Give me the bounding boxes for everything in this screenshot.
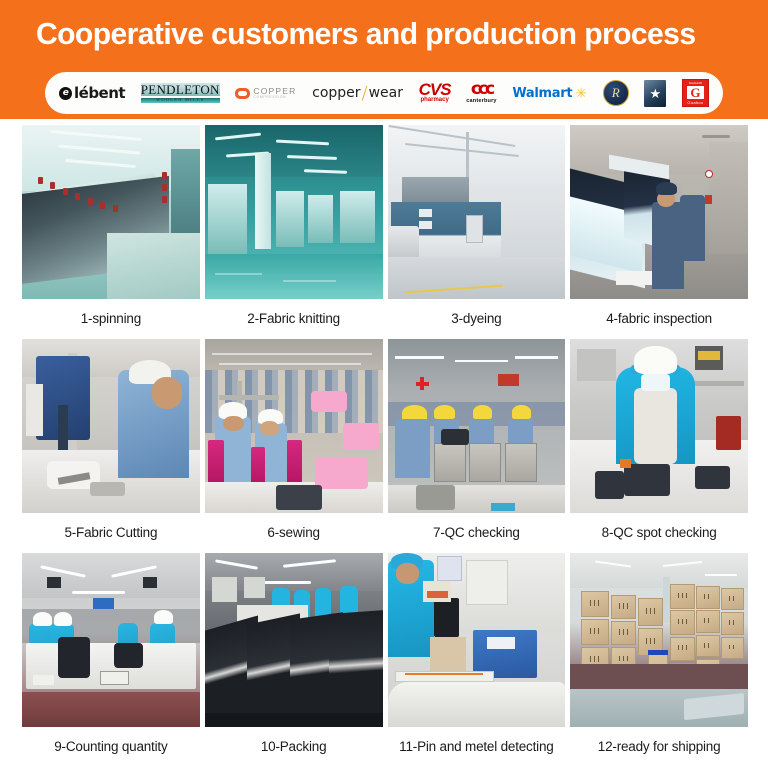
process-step-11: 11-Pin and metel detecting [388,553,566,767]
process-row-2: 5-Fabric Cutting [22,339,748,553]
copper-fit-tagline: COMPRESSION [253,96,296,100]
photo-spinning-mill-yarn-bobbins [22,125,200,299]
caption-step-7: 7-QC checking [388,513,566,553]
logo-pendleton: PENDLETON WOOLEN MILLS [141,76,220,110]
photo-knitting-machine-hall [205,125,383,299]
process-step-7: 7-QC checking [388,339,566,553]
process-step-10: 10-Packing [205,553,383,767]
caption-step-4: 4-fabric inspection [570,299,748,339]
photo-fabric-cutting-worker [22,339,200,513]
page-title: Cooperative customers and production pro… [36,16,695,52]
walmart-spark-icon: ✳ [575,86,587,100]
caption-step-2: 2-Fabric knitting [205,299,383,339]
process-row-3: 9-Counting quantity [22,553,748,767]
logo-lebent: e lébent [59,76,125,110]
reebok-r-emblem-icon: R [603,80,629,106]
logo-star-badge: ★ [644,76,666,110]
process-row-1: 1-spinning [22,125,748,339]
process-step-5: 5-Fabric Cutting [22,339,200,553]
process-step-4: 4-fabric inspection [570,125,748,339]
process-step-2: 2-Fabric knitting [205,125,383,339]
lebent-mark-icon: e [59,87,72,100]
copper-fit-wordmark: COPPER [253,87,296,96]
copper-wear-part1: copper [312,85,360,101]
process-step-8: 8-QC spot checking [570,339,748,553]
logo-copper-fit: COPPER COMPRESSION [235,76,296,110]
pendleton-wordmark: PENDLETON [141,83,220,96]
cvs-wordmark: CVS [419,82,451,98]
photo-warehouse-cartons-ready [570,553,748,727]
cvs-sub: pharmacy [419,98,451,104]
caption-step-10: 10-Packing [205,727,383,767]
caption-step-6: 6-sewing [205,513,383,553]
caption-step-3: 3-dyeing [388,299,566,339]
caption-step-1: 1-spinning [22,299,200,339]
process-step-3: 3-dyeing [388,125,566,339]
poster-header: Cooperative customers and production pro… [0,0,768,119]
process-step-1: 1-spinning [22,125,200,339]
poster-page: Cooperative customers and production pro… [0,0,768,768]
caption-step-11: 11-Pin and metel detecting [388,727,566,767]
photo-packing-stacked-polybags [205,553,383,727]
logo-canterbury: ccc canterbury [466,76,496,110]
photo-metal-detector-conveyor [388,553,566,727]
caption-step-12: 12-ready for shipping [570,727,748,767]
photo-dyeing-machine-line [388,125,566,299]
photo-sewing-floor-pink-yarn-cones [205,339,383,513]
customer-logo-bar: e lébent PENDLETON WOOLEN MILLS COPPER C… [45,72,723,114]
logo-copper-wear: copper / wear [312,76,403,110]
photo-qc-spot-check-folding-garments [570,339,748,513]
process-step-12: 12-ready for shipping [570,553,748,767]
g-brand-sub: Guahoo [687,100,703,105]
caption-step-8: 8-QC spot checking [570,513,748,553]
walmart-wordmark: Walmart [512,86,572,101]
copper-wear-part2: wear [369,85,403,101]
photo-qc-checking-yellow-caps [388,339,566,513]
star-icon: ★ [649,87,661,100]
logo-cvs-pharmacy: CVS pharmacy [419,76,451,110]
g-brand-letter: G [687,86,703,99]
caption-step-9: 9-Counting quantity [22,727,200,767]
process-step-6: 6-sewing [205,339,383,553]
copper-fit-mark-icon [235,88,250,99]
logo-g-brand: GUAHOO G Guahoo [682,76,709,110]
copper-wear-slash-icon: / [362,83,368,104]
production-process-grid: 1-spinning [0,119,768,768]
logo-walmart: Walmart ✳ [512,76,587,110]
logo-reebok-r: R [603,76,629,110]
canterbury-wordmark: canterbury [466,99,496,105]
lebent-wordmark: lébent [74,84,125,102]
canterbury-kiwi-icon: ccc [466,81,496,98]
photo-counting-quantity-table [22,553,200,727]
pendleton-tagline: WOOLEN MILLS [141,98,220,103]
caption-step-5: 5-Fabric Cutting [22,513,200,553]
process-step-9: 9-Counting quantity [22,553,200,767]
photo-fabric-inspection-light-table [570,125,748,299]
